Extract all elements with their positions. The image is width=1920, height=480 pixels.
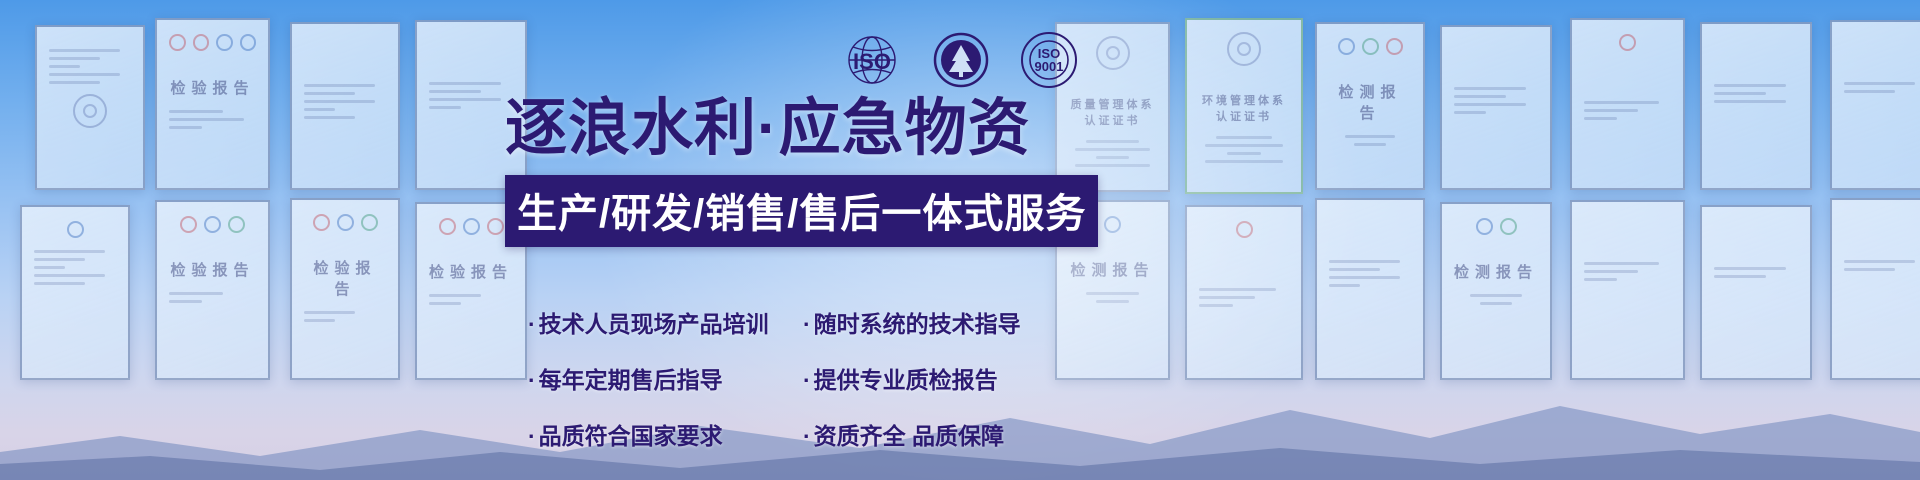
certificate-thumbnail [1315,198,1425,380]
certificate-thumbnail [290,22,400,190]
certificate-thumbnail [35,25,145,190]
iso9001-badge-icon: ISO 9001 [1018,31,1080,89]
list-item: ·品质符合国家要求 [528,417,803,451]
list-item-label: 资质齐全 品质保障 [814,423,1004,449]
list-item: ·每年定期售后指导 [528,361,803,395]
cert-logo-icon [361,214,378,231]
certificate-thumbnail: 检验报告 [155,200,270,380]
cert-logo-icon [67,221,84,238]
cert-logo-icon [1476,218,1493,235]
certificate-thumbnail [20,205,130,380]
certificate-title: 检验报告 [429,261,513,282]
certificate-thumbnail: 检测报告 [1440,202,1552,380]
svg-text:9001: 9001 [1035,59,1064,74]
certification-logos [1584,34,1671,51]
iso-globe-badge-icon: ISO [840,31,904,89]
certification-logos [34,221,116,238]
certificate-title: 检测报告 [1069,259,1156,280]
list-item-label: 品质符合国家要求 [539,423,723,449]
certificate-title [1714,243,1798,255]
cqc-logo-icon [180,216,197,233]
cert-logo-icon [1338,38,1355,55]
cert-logo-icon [1104,216,1121,233]
banner-title: 逐浪水利·应急物资 [505,96,1075,162]
bullet-dot-icon: · [528,423,536,449]
iso-mark-icon [1096,36,1130,70]
certification-logos [1454,218,1538,235]
certificate-thumbnail [1570,200,1685,380]
cert-logo-icon [1362,38,1379,55]
certificate-thumbnail: 检验报告 [155,18,270,190]
certificate-title: 检测报告 [1329,81,1411,123]
certificate-thumbnail [1700,22,1812,190]
certificate-thumbnail: 检验报告 [290,198,400,380]
bullet-dot-icon: · [803,367,811,393]
certificate-thumbnail [1830,20,1920,190]
certificate-title [1584,77,1671,89]
cert-logo-icon [1386,38,1403,55]
certification-logos [304,214,386,231]
cert-logo-icon [487,218,504,235]
certification-logos [169,216,256,233]
bullet-dot-icon: · [528,311,536,337]
bullet-dot-icon: · [528,367,536,393]
list-item-label: 提供专业质检报告 [814,367,998,393]
certificate-title: 质量管理体系认证证书 [1069,96,1156,128]
iso14000-badge-icon [932,31,990,89]
certificate-title [1454,63,1538,75]
cert-logo-icon [216,34,233,51]
cert-logo-icon [1500,218,1517,235]
list-item-label: 技术人员现场产品培训 [539,311,769,337]
list-item: ·随时系统的技术指导 [803,305,1058,339]
certificate-title [1844,58,1920,70]
stamp-icon [73,94,107,128]
list-item-label: 每年定期售后指导 [539,367,723,393]
cert-logo-icon [240,34,257,51]
certificate-title [1844,236,1920,248]
certificate-title: 环境管理体系认证证书 [1199,92,1289,124]
cert-logo-icon [337,214,354,231]
cqc-logo-icon [439,218,456,235]
certificate-title [429,58,513,70]
certification-logos [169,34,256,51]
cert-logo-icon [463,218,480,235]
iso-mark-icon [1227,32,1261,66]
certification-logos [429,218,513,235]
certificate-title: 检验报告 [169,259,256,280]
svg-text:ISO: ISO [853,49,891,74]
banner-subtitle-bar: 生产/研发/销售/售后一体式服务 [505,175,1098,247]
ccc-logo-icon [193,34,210,51]
certification-logos [1199,221,1289,238]
certificate-thumbnail [1700,205,1812,380]
list-item-label: 随时系统的技术指导 [814,311,1021,337]
bullet-dot-icon: · [803,311,811,337]
certificate-thumbnail: 环境管理体系认证证书 [1185,18,1303,194]
certificate-title: 检验报告 [169,77,256,98]
certificate-title [1584,238,1671,250]
cqc-logo-icon [169,34,186,51]
service-bullet-list: ·技术人员现场产品培训 ·随时系统的技术指导 ·每年定期售后指导 ·提供专业质检… [528,305,1088,451]
promo-banner: 检验报告 质量管理体系认证证书 环境管理体系认证证书 [0,0,1920,480]
certificate-thumbnail: 检测报告 [1315,22,1425,190]
cert-logo-icon [1236,221,1253,238]
headline-block: 逐浪水利·应急物资 生产/研发/销售/售后一体式服务 [505,96,1075,247]
certificate-thumbnail [1830,198,1920,380]
certificate-title: 检验报告 [304,257,386,299]
cert-logo-icon [204,216,221,233]
cqc-logo-icon [313,214,330,231]
list-item: ·技术人员现场产品培训 [528,305,803,339]
iso-badge-group: ISO ISO 9001 [840,28,1080,92]
certificate-thumbnail [1570,18,1685,190]
certificate-title [1329,236,1411,248]
certification-logos [1329,38,1411,55]
certificate-title [1714,60,1798,72]
certificate-thumbnail [1185,205,1303,380]
list-item: ·提供专业质检报告 [803,361,1058,395]
certificate-title [304,60,386,72]
bullet-dot-icon: · [803,423,811,449]
certificate-title [1199,264,1289,276]
cert-logo-icon [228,216,245,233]
cert-logo-icon [1619,34,1636,51]
list-item: ·资质齐全 品质保障 [803,417,1058,451]
certificate-thumbnail [1440,25,1552,190]
certificate-title: 检测报告 [1454,261,1538,282]
